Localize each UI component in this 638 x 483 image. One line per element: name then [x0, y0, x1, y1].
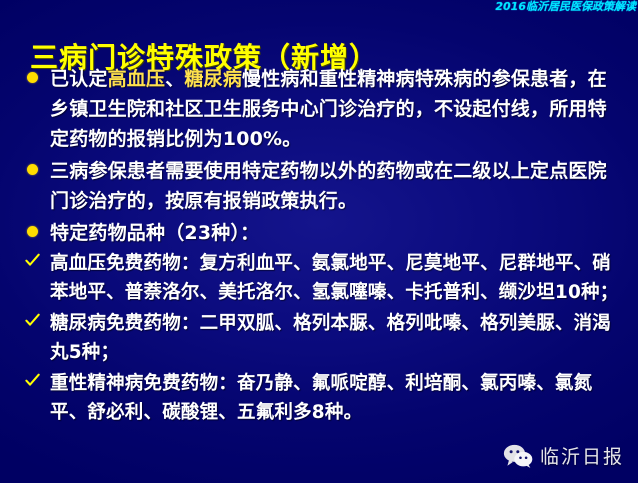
text-segment-highlight: 高血压 [108, 68, 166, 90]
list-item-text: 高血压免费药物：复方利血平、氨氯地平、尼莫地平、尼群地平、硝苯地平、普萘洛尔、美… [50, 249, 624, 307]
list-item-text: 重性精神病免费药物：奋乃静、氟哌啶醇、利培酮、氯丙嗪、氯氮平、舒必利、碳酸锂、五… [50, 369, 624, 427]
check-icon [24, 369, 50, 392]
text-segment: 、 [165, 68, 184, 90]
list-item: 高血压免费药物：复方利血平、氨氯地平、尼莫地平、尼群地平、硝苯地平、普萘洛尔、美… [24, 249, 624, 307]
list-item-text: 三病参保患者需要使用特定药物以外的药物或在二级以上定点医院门诊治疗的，按原有报销… [50, 156, 624, 216]
watermark: 临沂日报 [503, 442, 624, 469]
corner-ribbon-label: 2016临沂居民医保政策解读 [487, 0, 638, 14]
list-item-text: 特定药物品种（23种）： [50, 218, 624, 248]
slide-body: 已认定高血压、糖尿病慢性病和重性精神病特殊病的参保患者，在乡镇卫生院和社区卫生服… [24, 64, 624, 427]
list-item-text: 糖尿病免费药物：二甲双胍、格列本脲、格列吡嗪、格列美脲、消渴丸5种； [50, 309, 624, 367]
bullet-dot-icon [24, 218, 50, 241]
check-icon [24, 309, 50, 332]
list-item: 已认定高血压、糖尿病慢性病和重性精神病特殊病的参保患者，在乡镇卫生院和社区卫生服… [24, 64, 624, 154]
list-item-text: 已认定高血压、糖尿病慢性病和重性精神病特殊病的参保患者，在乡镇卫生院和社区卫生服… [50, 64, 624, 154]
bullet-dot-icon [24, 64, 50, 87]
list-item: 特定药物品种（23种）： [24, 218, 624, 248]
check-icon [24, 249, 50, 272]
bullet-dot-icon [24, 156, 50, 179]
list-item: 糖尿病免费药物：二甲双胍、格列本脲、格列吡嗪、格列美脲、消渴丸5种； [24, 309, 624, 367]
list-item: 三病参保患者需要使用特定药物以外的药物或在二级以上定点医院门诊治疗的，按原有报销… [24, 156, 624, 216]
wechat-icon [503, 443, 533, 469]
list-item: 重性精神病免费药物：奋乃静、氟哌啶醇、利培酮、氯丙嗪、氯氮平、舒必利、碳酸锂、五… [24, 369, 624, 427]
slide-canvas: 2016临沂居民医保政策解读 三病门诊特殊政策（新增） 已认定高血压、糖尿病慢性… [0, 0, 638, 483]
text-segment-highlight: 糖尿病 [184, 68, 242, 90]
watermark-label: 临沂日报 [540, 442, 624, 469]
text-segment: 已认定 [50, 68, 108, 90]
